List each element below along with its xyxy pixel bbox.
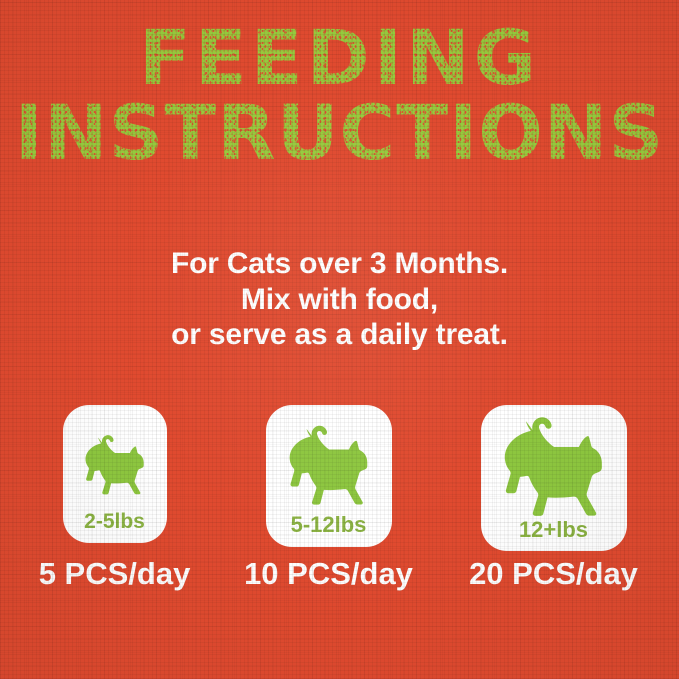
- feeding-cards-row: 2-5lbs 5 PCS/day 5-12lbs 10 PCS/day: [0, 405, 679, 620]
- title-line-instructions: INSTRUCTIONS: [0, 97, 679, 168]
- subtitle-line-treat: or serve as a daily treat.: [0, 317, 679, 353]
- feeding-card-column: 12+lbs 20 PCS/day: [440, 405, 668, 589]
- cat-walking-medium-icon: [266, 417, 392, 514]
- subtitle-line-age: For Cats over 3 Months.: [0, 246, 679, 282]
- feeding-card-large: 12+lbs: [481, 405, 627, 551]
- dosage-label: 20 PCS/day: [469, 558, 638, 589]
- cat-walking-small-icon: [63, 419, 167, 511]
- dosage-label: 10 PCS/day: [244, 558, 413, 589]
- feeding-instructions-poster: FEEDING INSTRUCTIONS For Cats over 3 Mon…: [0, 0, 679, 679]
- feeding-card-medium: 5-12lbs: [266, 405, 392, 547]
- title-line-feeding: FEEDING: [0, 22, 679, 93]
- weight-range-label: 5-12lbs: [291, 514, 367, 536]
- subtitle-line-mix: Mix with food,: [0, 282, 679, 318]
- feeding-card-column: 5-12lbs 10 PCS/day: [218, 405, 440, 589]
- weight-range-label: 2-5lbs: [84, 511, 145, 532]
- poster-subtitle: For Cats over 3 Months. Mix with food, o…: [0, 246, 679, 353]
- cat-walking-large-icon: [481, 415, 627, 519]
- weight-range-label: 12+lbs: [519, 519, 588, 541]
- feeding-card-small: 2-5lbs: [63, 405, 167, 543]
- poster-title: FEEDING INSTRUCTIONS: [0, 22, 679, 169]
- feeding-card-column: 2-5lbs 5 PCS/day: [12, 405, 218, 589]
- dosage-label: 5 PCS/day: [39, 558, 191, 589]
